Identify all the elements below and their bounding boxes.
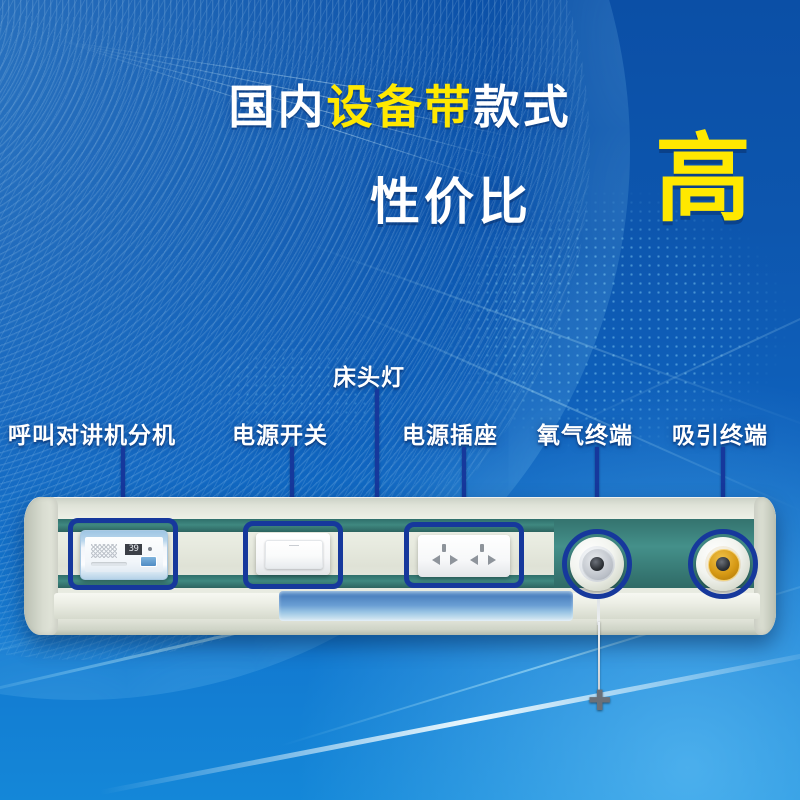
- highlight-box-power-socket: [404, 522, 524, 588]
- highlight-box-power-switch: [243, 521, 343, 589]
- poster-canvas: 国内设备带款式 性价比 高 呼叫对讲机分机 电源开关 床头灯 电源插座 氧气终端…: [0, 0, 800, 800]
- highlight-box-intercom: [68, 518, 178, 590]
- bed-lamp-diffuser: [279, 591, 573, 621]
- pull-cord-handle-icon[interactable]: ✚: [588, 688, 610, 714]
- pull-cord-upper: [597, 595, 600, 625]
- pull-cord[interactable]: [598, 622, 600, 694]
- callout-label-oxygen: 氧气终端: [537, 416, 633, 450]
- highlight-circle-suction: [688, 529, 758, 599]
- callout-label-power-switch: 电源开关: [232, 416, 328, 450]
- highlight-circle-oxygen: [562, 529, 632, 599]
- callout-label-intercom: 呼叫对讲机分机: [8, 416, 176, 450]
- callout-label-power-socket: 电源插座: [402, 416, 498, 450]
- callout-label-bed-lamp: 床头灯: [333, 358, 405, 392]
- dotted-world-map-secondary: [180, 300, 480, 480]
- panel-end-cap-left: [24, 497, 58, 635]
- callout-label-suction: 吸引终端: [672, 416, 768, 450]
